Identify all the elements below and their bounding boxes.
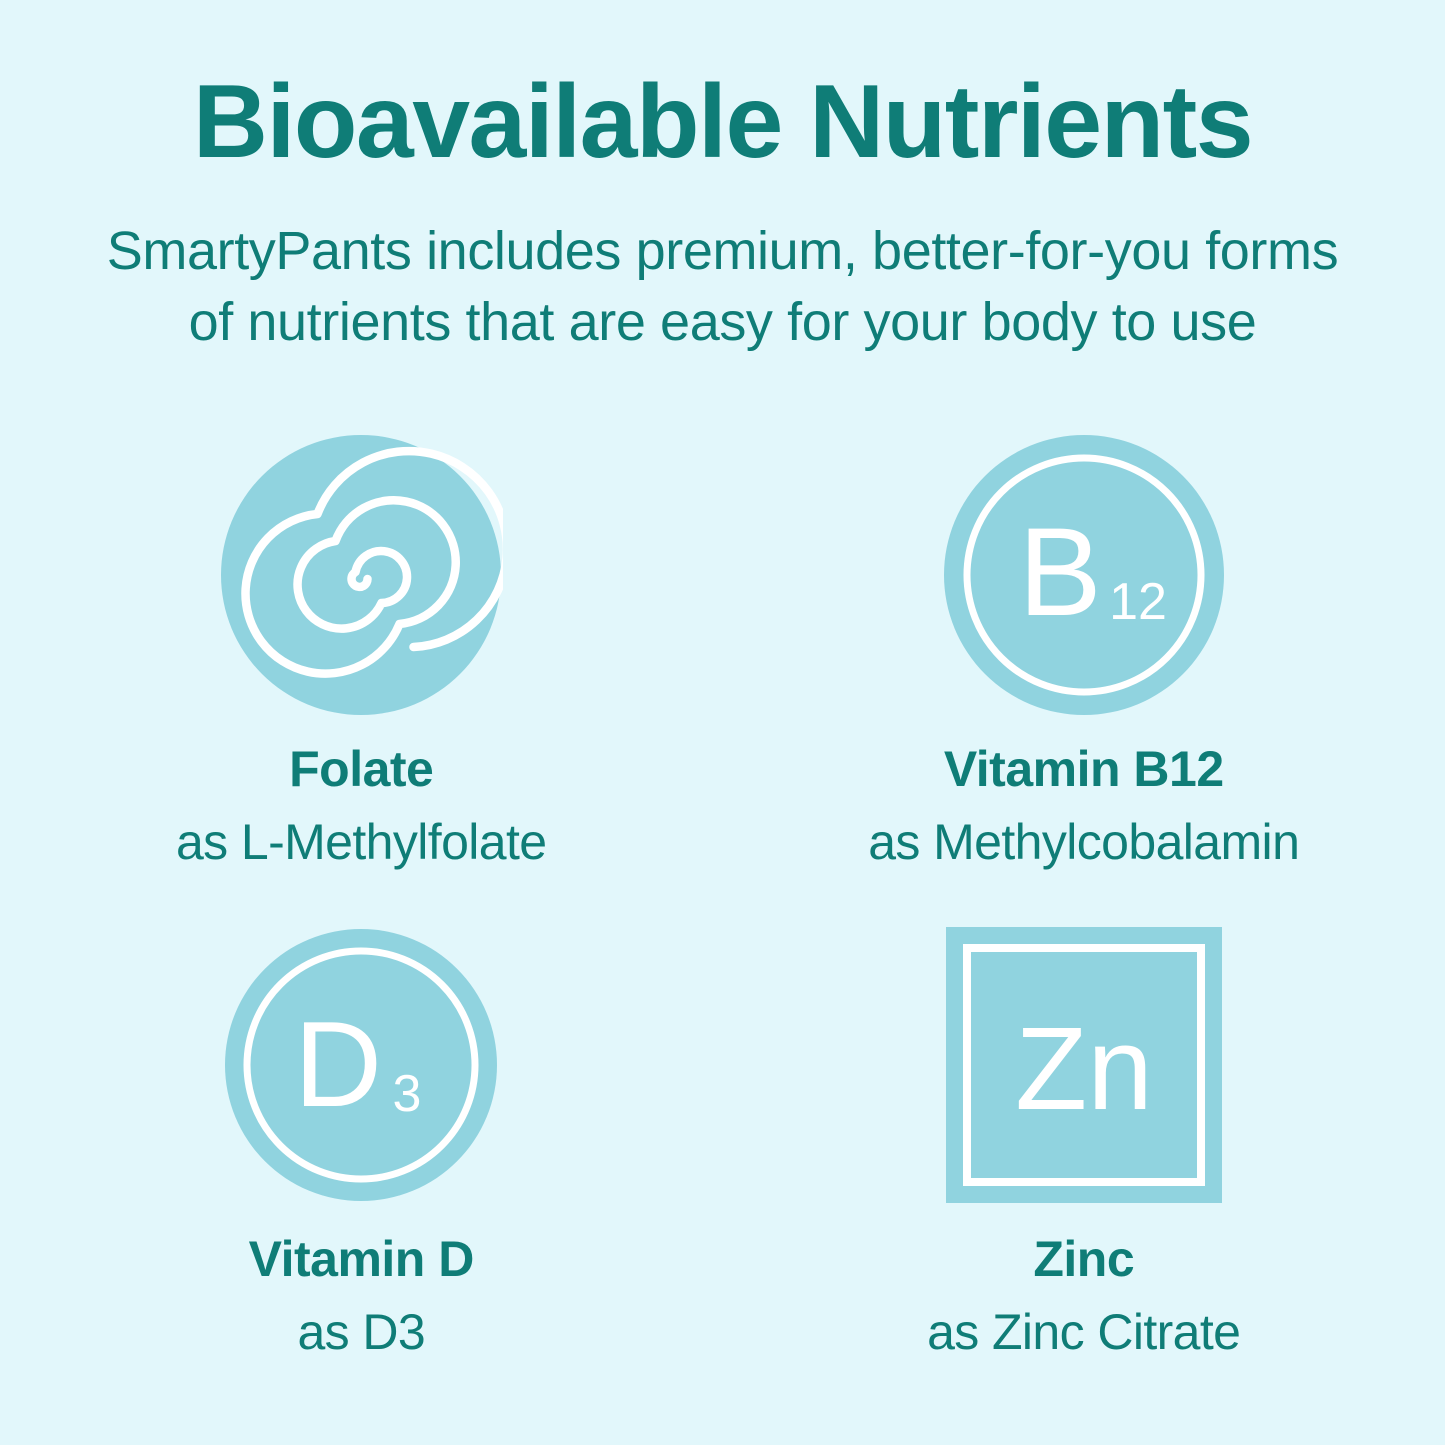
b12-circle-icon: B 12	[942, 433, 1226, 717]
nutrient-card-vitamin-d: D 3 Vitamin D as D3	[0, 910, 723, 1390]
d3-letter: D	[294, 996, 382, 1132]
b12-letter: B	[1018, 503, 1101, 642]
nutrient-form: as Zinc Citrate	[927, 1305, 1240, 1360]
nutrient-name: Zinc	[1033, 1232, 1134, 1287]
nutrient-card-folate: Folate as L-Methylfolate	[0, 430, 723, 910]
page-subtitle: SmartyPants includes premium, better-for…	[58, 216, 1388, 359]
d3-subscript: 3	[393, 1065, 422, 1123]
nutrient-card-vitamin-b12: B 12 Vitamin B12 as Methylcobalamin	[723, 430, 1445, 910]
spiral-circle-icon	[219, 433, 503, 717]
nutrient-card-zinc: Zn Zinc as Zinc Citrate	[723, 910, 1445, 1390]
nutrient-name: Vitamin B12	[944, 742, 1224, 797]
nutrient-form: as Methylcobalamin	[868, 815, 1299, 870]
folate-icon-slot	[216, 430, 506, 720]
subtitle-line-2: of nutrients that are easy for your body…	[58, 287, 1388, 358]
nutrient-name: Vitamin D	[249, 1232, 474, 1287]
zinc-square-icon: Zn	[946, 927, 1222, 1203]
d3-icon-slot: D 3	[216, 920, 506, 1210]
bioavailable-nutrients-panel: Bioavailable Nutrients SmartyPants inclu…	[0, 0, 1445, 1445]
subtitle-line-1: SmartyPants includes premium, better-for…	[58, 216, 1388, 287]
zinc-icon-slot: Zn	[939, 920, 1229, 1210]
b12-subscript: 12	[1109, 573, 1167, 631]
d3-circle-icon: D 3	[223, 927, 499, 1203]
page-title: Bioavailable Nutrients	[0, 70, 1445, 174]
nutrient-form: as D3	[297, 1305, 425, 1360]
nutrient-form: as L-Methylfolate	[176, 815, 547, 870]
nutrient-name: Folate	[289, 742, 433, 797]
header: Bioavailable Nutrients SmartyPants inclu…	[0, 70, 1445, 359]
b12-icon-slot: B 12	[939, 430, 1229, 720]
nutrient-grid: Folate as L-Methylfolate B 12 Vitamin B1…	[0, 430, 1445, 1390]
zinc-symbol: Zn	[1015, 1003, 1153, 1135]
